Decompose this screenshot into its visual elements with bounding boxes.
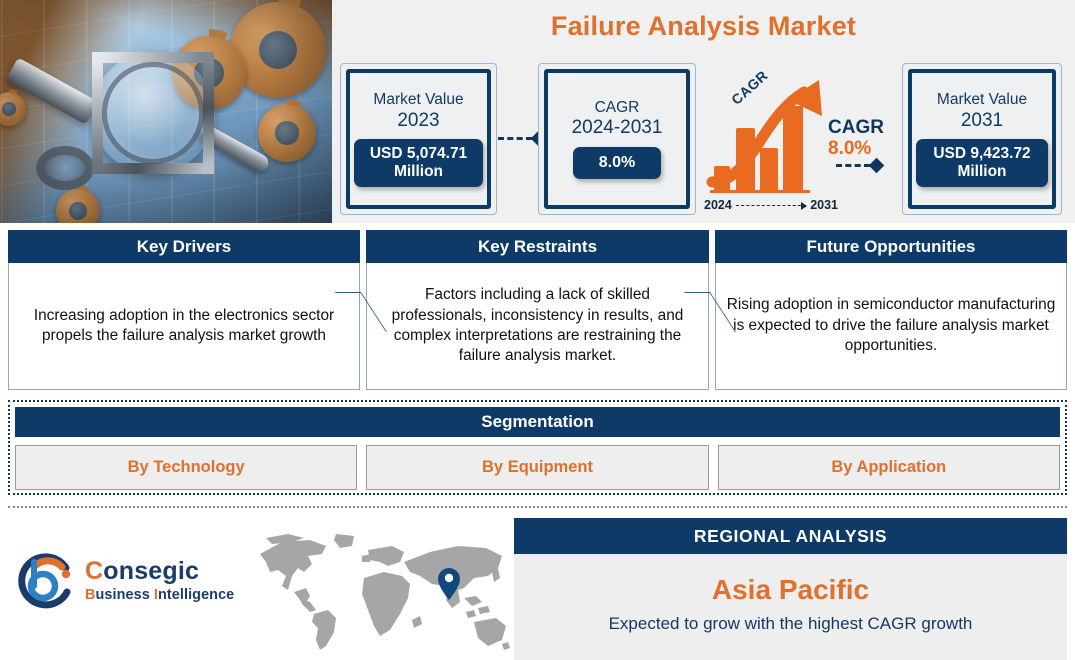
logo-sub-b: B — [85, 587, 96, 603]
segment-by-application[interactable]: By Application — [718, 445, 1060, 490]
segment-by-equipment[interactable]: By Equipment — [366, 445, 708, 490]
photo-vignette — [0, 0, 332, 223]
bar-4 — [783, 106, 803, 192]
brand-logo[interactable]: Consegic Business Intelligence — [14, 545, 244, 617]
logo-company-name: Consegic — [85, 559, 234, 584]
panel-key-drivers: Key Drivers Increasing adoption in the e… — [8, 230, 360, 390]
metric-label: CAGR — [595, 99, 640, 116]
segmentation-section: Segmentation By Technology By Equipment … — [8, 400, 1067, 495]
metric-card-cagr: CAGR 2024-2031 8.0% — [538, 63, 696, 215]
diamond-icon — [869, 158, 885, 174]
panel-title: Future Opportunities — [715, 230, 1067, 263]
logo-name-rest: onsegic — [103, 557, 199, 585]
region-name: Asia Pacific — [712, 574, 869, 606]
cagr-callout-value: 8.0% — [828, 138, 884, 160]
arrow-line-icon — [736, 205, 806, 206]
logo-tagline: Business Intelligence — [85, 588, 234, 602]
metric-year: 2023 — [397, 110, 439, 133]
connector-dashed-2 — [836, 160, 882, 171]
panel-title: Key Restraints — [366, 230, 709, 263]
bar-3 — [760, 148, 778, 192]
metric-card-market-value-2031: Market Value 2031 USD 9,423.72 Million — [902, 63, 1062, 215]
panel-future-opportunities: Future Opportunities Rising adoption in … — [715, 230, 1067, 390]
chart-axis — [710, 190, 810, 193]
metric-card-market-value-2023: Market Value 2023 USD 5,074.71 Million — [340, 63, 497, 215]
hero-photo — [0, 0, 332, 223]
top-band: Failure Analysis Market Market Value 202… — [0, 0, 1075, 225]
axis-start-year: 2024 — [704, 198, 732, 212]
cagr-callout: CAGR 8.0% — [828, 118, 884, 160]
logo-sub-usiness: usiness — [96, 587, 154, 603]
dashed-line — [836, 164, 870, 167]
consegic-logo-icon — [14, 550, 76, 612]
metric-value-pill: USD 9,423.72 Million — [916, 139, 1048, 186]
metric-year: 2031 — [961, 110, 1003, 133]
infographic-root: Failure Analysis Market Market Value 202… — [0, 0, 1075, 660]
panel-title: Key Drivers — [8, 230, 360, 263]
logo-name-first: C — [85, 557, 103, 585]
metric-period: 2024-2031 — [572, 117, 663, 140]
panel-text: Increasing adoption in the electronics s… — [8, 263, 360, 390]
segmentation-items: By Technology By Equipment By Applicatio… — [15, 445, 1060, 490]
dashed-line — [498, 137, 532, 140]
metric-value-pill: 8.0% — [573, 147, 661, 179]
world-map — [252, 532, 514, 654]
regional-analysis-body: Asia Pacific Expected to grow with the h… — [514, 554, 1067, 660]
cagr-callout-title: CAGR — [828, 118, 884, 138]
panel-text: Factors including a lack of skilled prof… — [366, 263, 709, 390]
logo-sub-ntelligence: ntelligence — [158, 587, 234, 603]
regional-analysis-box: REGIONAL ANALYSIS Asia Pacific Expected … — [514, 518, 1067, 660]
metric-label: Market Value — [373, 91, 463, 108]
map-continents — [260, 534, 510, 650]
axis-end-year: 2031 — [810, 198, 838, 212]
region-description: Expected to grow with the highest CAGR g… — [609, 614, 973, 634]
metric-value-pill: USD 5,074.71 Million — [354, 139, 483, 186]
panel-key-restraints: Key Restraints Factors including a lack … — [366, 230, 709, 390]
logo-text: Consegic Business Intelligence — [85, 559, 234, 602]
growth-chart-icon: CAGR 2024 2031 — [706, 78, 836, 210]
bar-2 — [736, 128, 755, 192]
regional-analysis-title: REGIONAL ANALYSIS — [514, 518, 1067, 554]
metric-label: Market Value — [937, 91, 1027, 108]
bar-1 — [714, 166, 730, 192]
segmentation-title: Segmentation — [15, 407, 1060, 437]
segment-by-technology[interactable]: By Technology — [15, 445, 357, 490]
year-axis: 2024 2031 — [704, 198, 838, 212]
page-title: Failure Analysis Market — [332, 11, 1075, 42]
divider — [8, 506, 1067, 508]
panel-text: Rising adoption in semiconductor manufac… — [715, 263, 1067, 390]
